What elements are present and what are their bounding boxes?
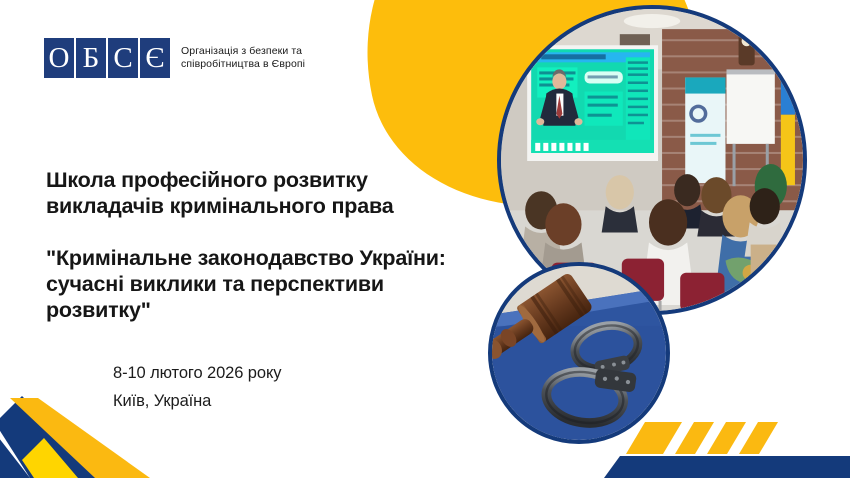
event-subtitle-line-3: розвитку" (46, 297, 446, 323)
osce-tagline-line-2: співробітництва в Європі (181, 58, 305, 71)
yellow-stripe-3 (707, 422, 746, 454)
striped-band-bottom-right (590, 408, 850, 478)
conference-room-illustration (501, 9, 803, 311)
logo-letter-s: С (108, 38, 138, 78)
title-block: Школа професійного розвитку викладачів к… (46, 167, 446, 323)
logo-letter-b: Б (76, 38, 106, 78)
event-location: Київ, Україна (113, 387, 281, 415)
bottom-right-band-svg (590, 408, 850, 478)
slide-canvas: О Б С Є Організація з безпеки та співроб… (0, 0, 850, 478)
event-subtitle: "Кримінальне законодавство України: суча… (46, 245, 446, 323)
event-subtitle-line-1: "Кримінальне законодавство України: (46, 245, 446, 271)
event-title-line-2: викладачів кримінального права (46, 193, 446, 219)
osce-logo: О Б С Є Організація з безпеки та співроб… (44, 38, 305, 78)
osce-logo-marks: О Б С Є (44, 38, 170, 78)
yellow-stripe-2 (675, 422, 714, 454)
logo-letter-o: О (44, 38, 74, 78)
event-subtitle-line-2: сучасні виклики та перспективи (46, 271, 446, 297)
event-meta: 8-10 лютого 2026 року Київ, Україна (113, 359, 281, 415)
logo-letter-ye: Є (140, 38, 170, 78)
yellow-stripe-1 (626, 422, 682, 454)
event-title: Школа професійного розвитку викладачів к… (46, 167, 446, 219)
osce-logo-tagline: Організація з безпеки та співробітництва… (181, 45, 305, 71)
event-title-line-1: Школа професійного розвитку (46, 167, 446, 193)
navy-band-edge (638, 458, 786, 460)
yellow-stripe-4 (739, 422, 778, 454)
osce-tagline-line-1: Організація з безпеки та (181, 45, 305, 58)
event-date: 8-10 лютого 2026 року (113, 359, 281, 387)
